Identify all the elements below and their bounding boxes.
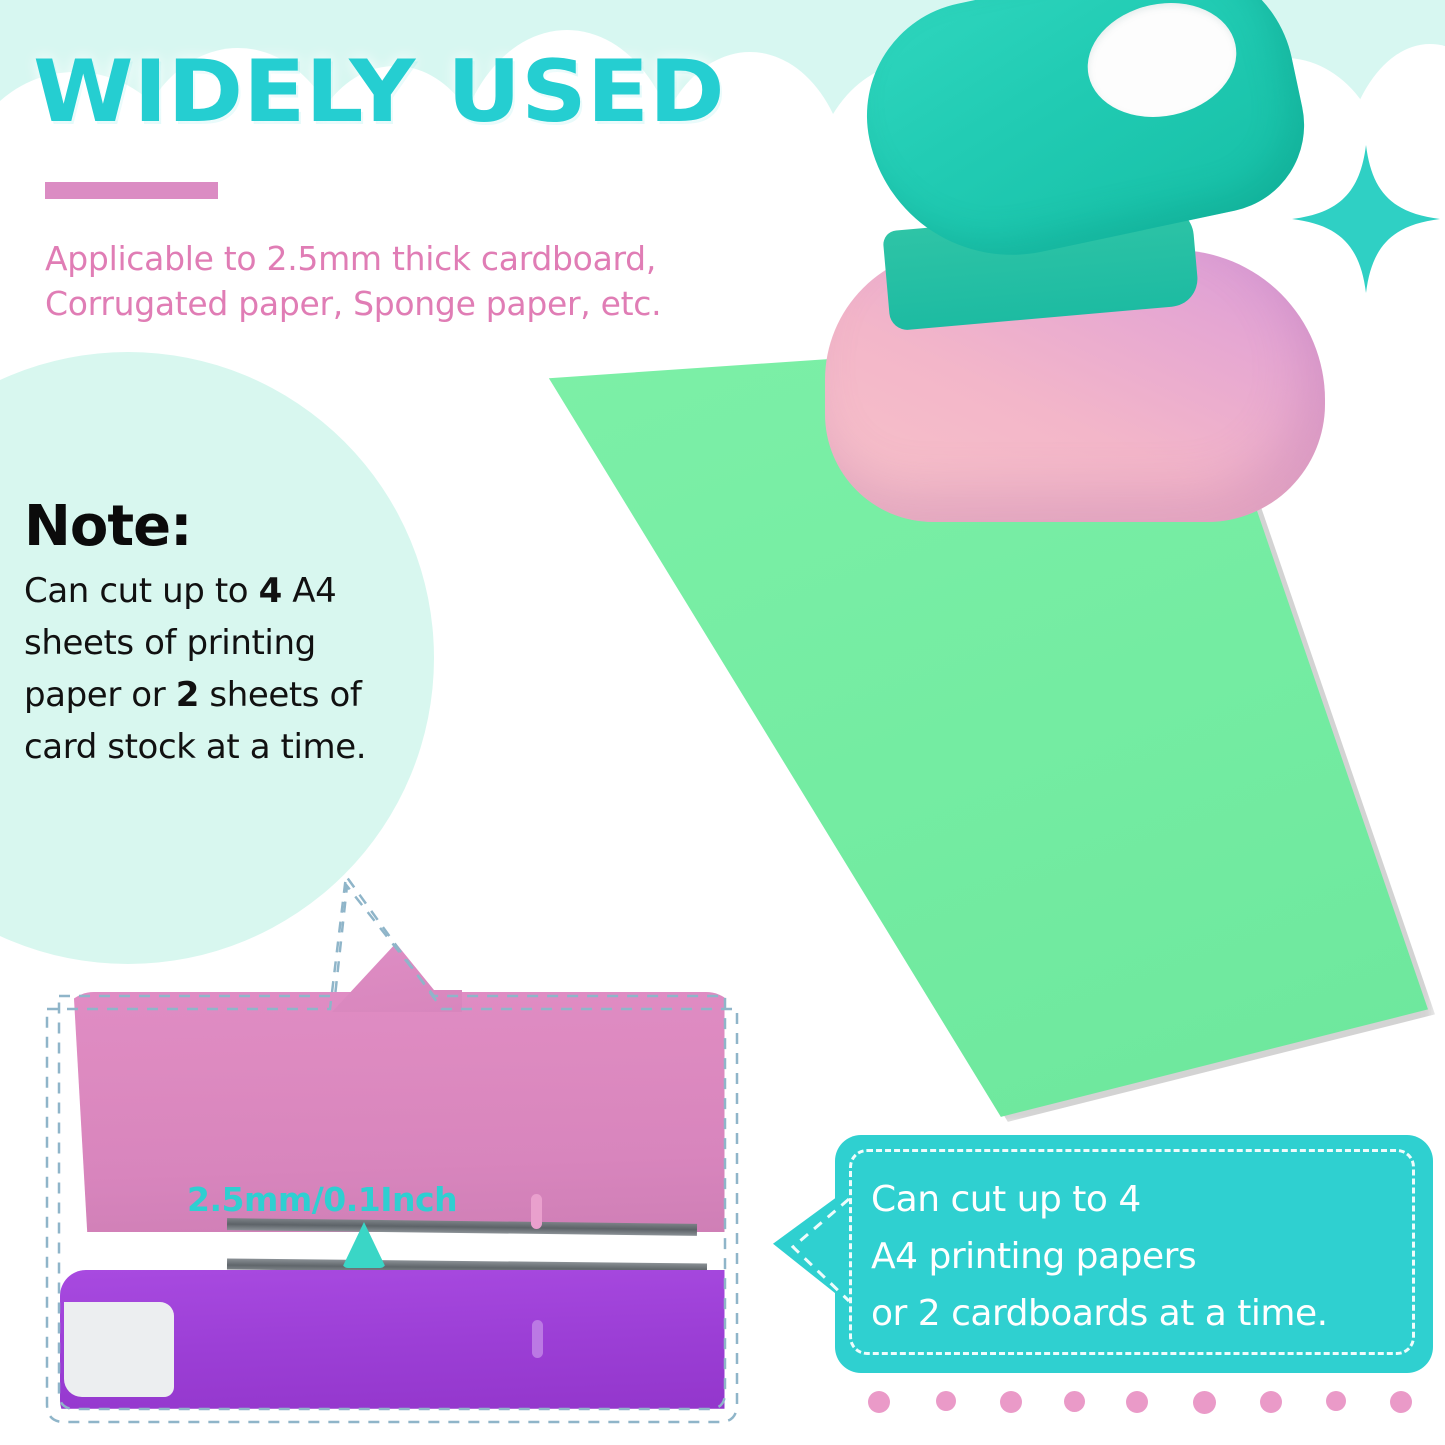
- four-point-sparkle-icon: [1292, 143, 1440, 295]
- note-line4: card stock at a time.: [24, 727, 366, 767]
- note-line1-a: Can cut up to: [24, 571, 259, 611]
- detail-photo-bubble: [42, 872, 742, 1434]
- callout-line-3: or 2 cardboards at a time.: [871, 1285, 1411, 1342]
- callout-line-1: Can cut up to 4: [871, 1171, 1411, 1228]
- dot-decoration: [936, 1391, 956, 1411]
- decorative-dot-row: [868, 1391, 1428, 1417]
- note-count-card: 2: [176, 675, 199, 715]
- note-line3-c: sheets of: [199, 675, 362, 715]
- subtitle-text: Applicable to 2.5mm thick cardboard, Cor…: [45, 236, 805, 326]
- detail-bubble-dashed-outline: [42, 872, 742, 1434]
- callout-text: Can cut up to 4 A4 printing papers or 2 …: [871, 1171, 1411, 1342]
- callout-tail-dashed-border: [771, 1185, 861, 1315]
- capacity-callout-bubble: Can cut up to 4 A4 printing papers or 2 …: [775, 1133, 1433, 1375]
- note-body: Can cut up to 4 A4 sheets of printing pa…: [24, 565, 399, 773]
- note-line3-a: paper or: [24, 675, 176, 715]
- subtitle-line-2: Corrugated paper, Sponge paper, etc.: [45, 281, 805, 326]
- dot-decoration: [1326, 1391, 1346, 1411]
- dot-decoration: [1260, 1391, 1282, 1413]
- measurement-label: 2.5mm/0.1Inch: [187, 1180, 457, 1219]
- title-underline-rule: [45, 182, 218, 199]
- page-title: WIDELY USED: [33, 42, 725, 142]
- note-count-sheets: 4: [259, 571, 282, 611]
- dot-decoration: [1000, 1391, 1022, 1413]
- dot-decoration: [1193, 1391, 1216, 1414]
- callout-line-2: A4 printing papers: [871, 1228, 1411, 1285]
- note-heading: Note:: [24, 494, 191, 559]
- note-line2: sheets of printing: [24, 623, 316, 663]
- subtitle-line-1: Applicable to 2.5mm thick cardboard,: [45, 236, 805, 281]
- infographic-page: WIDELY USED Applicable to 2.5mm thick ca…: [0, 0, 1445, 1445]
- dot-decoration: [1126, 1391, 1148, 1413]
- dot-decoration: [1064, 1391, 1085, 1412]
- dot-decoration: [1390, 1391, 1412, 1413]
- dot-decoration: [868, 1391, 890, 1413]
- note-line1-c: A4: [282, 571, 337, 611]
